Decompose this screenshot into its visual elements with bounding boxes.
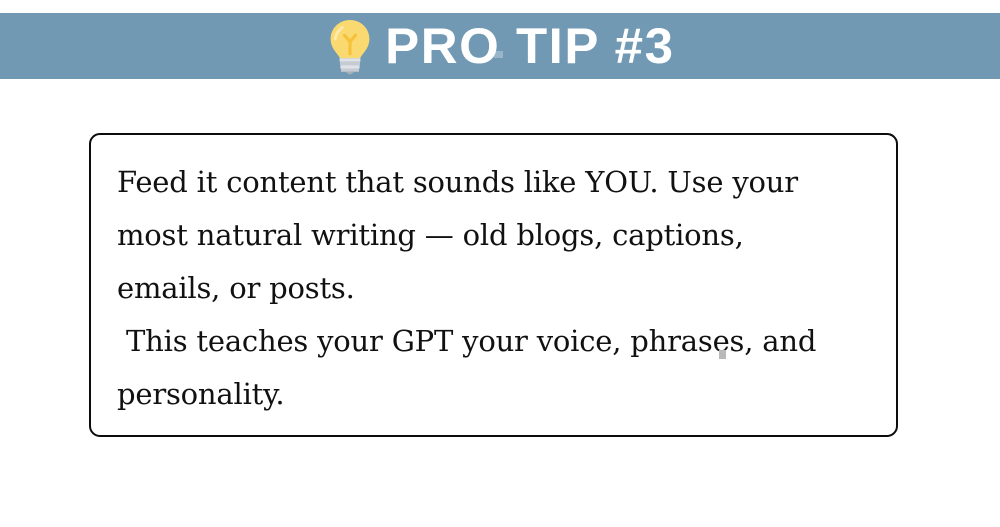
tip-text-line: This teaches your GPT your voice, phrase… <box>117 315 877 368</box>
tip-text-line: most natural writing — old blogs, captio… <box>117 209 877 262</box>
header-banner: PRO TIP #3 <box>0 13 1000 79</box>
tip-text-line: emails, or posts. <box>117 262 877 315</box>
tip-text-line: Feed it content that sounds like YOU. Us… <box>117 156 877 209</box>
tip-text-block: Feed it content that sounds like YOU. Us… <box>117 156 877 421</box>
page-title: PRO TIP #3 <box>385 21 674 71</box>
lightbulb-icon <box>328 19 372 75</box>
tip-text-line: personality. <box>117 368 877 421</box>
slide-canvas: PRO TIP #3 Feed it content that sounds l… <box>0 0 1000 527</box>
